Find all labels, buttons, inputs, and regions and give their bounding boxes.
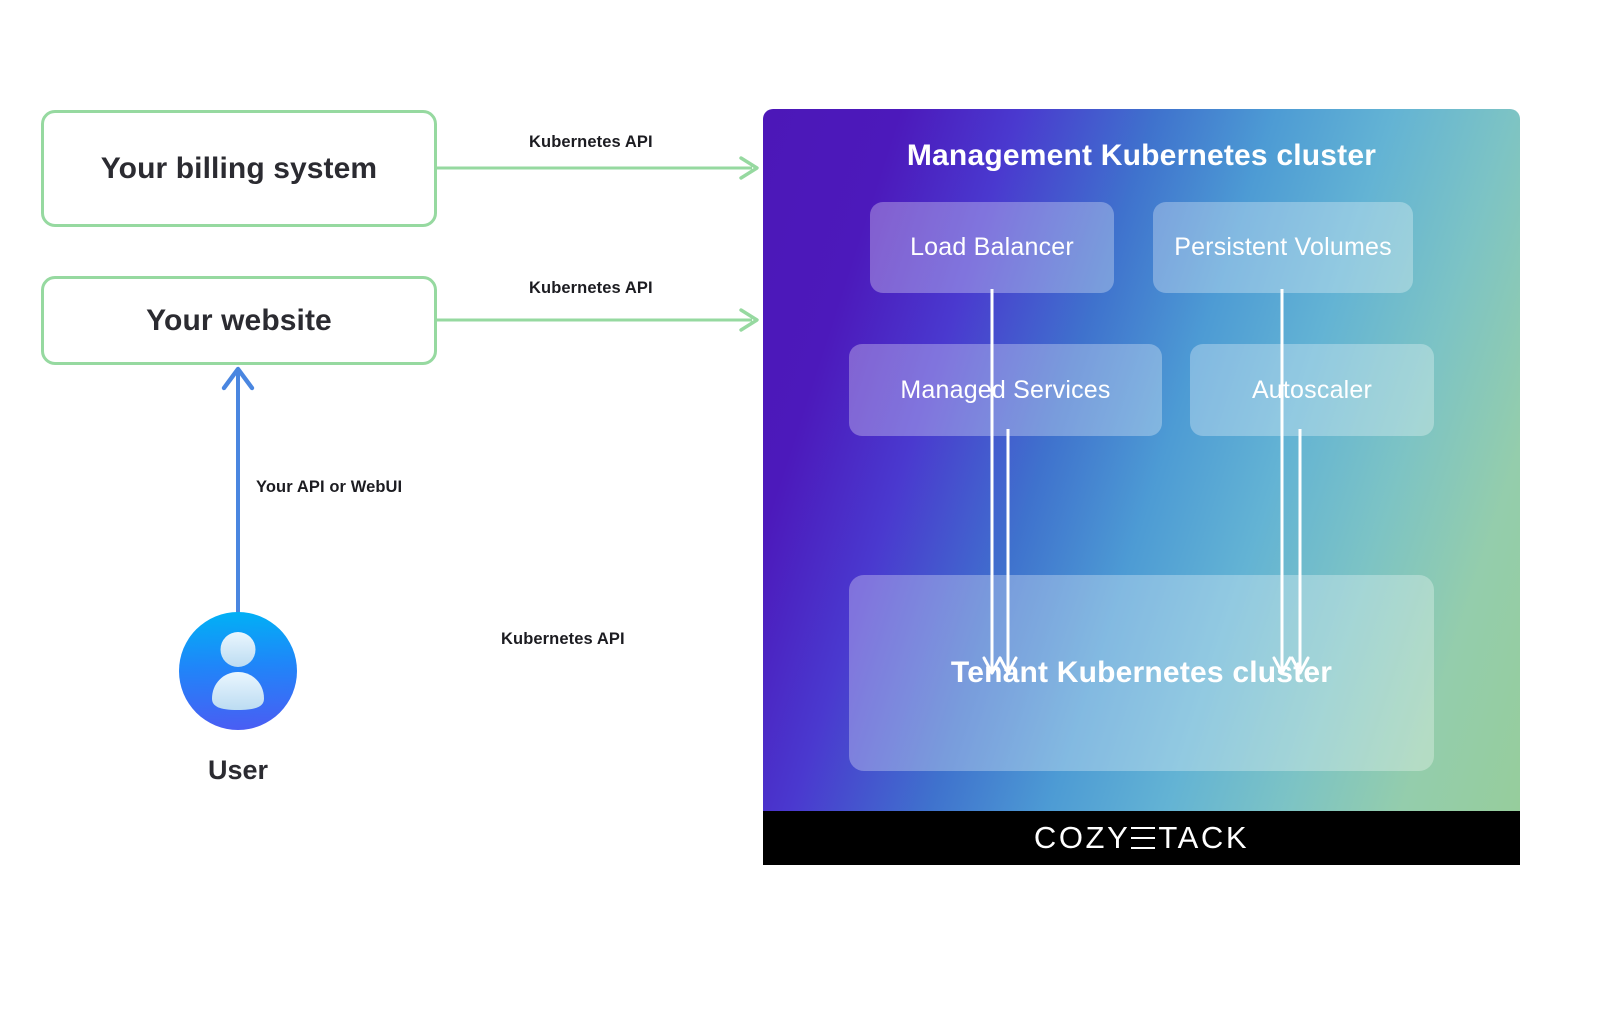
management-kubernetes-cluster-panel: Management Kubernetes cluster Load Balan… (763, 109, 1520, 811)
node-your-website[interactable]: Your website (41, 276, 437, 365)
cozystack-logo: COZY TACK (1034, 820, 1249, 856)
diagram-canvas: Your billing system Your website Kuberne… (0, 0, 1617, 1024)
logo-prefix-text: COZY (1034, 820, 1131, 856)
component-label: Autoscaler (1252, 376, 1372, 405)
edge-label-your-api-or-webui: Your API or WebUI (256, 478, 402, 497)
component-label: Managed Services (900, 376, 1110, 405)
management-cluster-title: Management Kubernetes cluster (763, 139, 1520, 173)
component-autoscaler[interactable]: Autoscaler (1190, 344, 1434, 436)
component-label: Persistent Volumes (1174, 233, 1392, 262)
edge-label-kubernetes-api-billing: Kubernetes API (529, 133, 653, 152)
footer-bar: COZY TACK (763, 811, 1520, 865)
user-avatar-icon (179, 612, 297, 730)
edge-label-kubernetes-api-website: Kubernetes API (529, 279, 653, 298)
edge-label-kubernetes-api-user: Kubernetes API (501, 630, 625, 649)
component-persistent-volumes[interactable]: Persistent Volumes (1153, 202, 1413, 293)
component-load-balancer[interactable]: Load Balancer (870, 202, 1114, 293)
component-tenant-kubernetes-cluster[interactable]: Tenant Kubernetes cluster (849, 575, 1434, 771)
arrow-billing-to-management (437, 158, 757, 178)
arrow-user-to-tenant-cluster (297, 661, 841, 683)
stacked-bars-s-icon (1131, 827, 1155, 849)
node-your-billing-system[interactable]: Your billing system (41, 110, 437, 227)
logo-suffix-text: TACK (1158, 820, 1249, 856)
node-label: Your website (146, 304, 332, 338)
component-label: Load Balancer (910, 233, 1074, 262)
node-label: Your billing system (101, 152, 377, 186)
arrow-website-to-management (437, 310, 757, 330)
user-label: User (179, 755, 297, 786)
component-managed-services[interactable]: Managed Services (849, 344, 1162, 436)
component-label: Tenant Kubernetes cluster (951, 656, 1332, 690)
